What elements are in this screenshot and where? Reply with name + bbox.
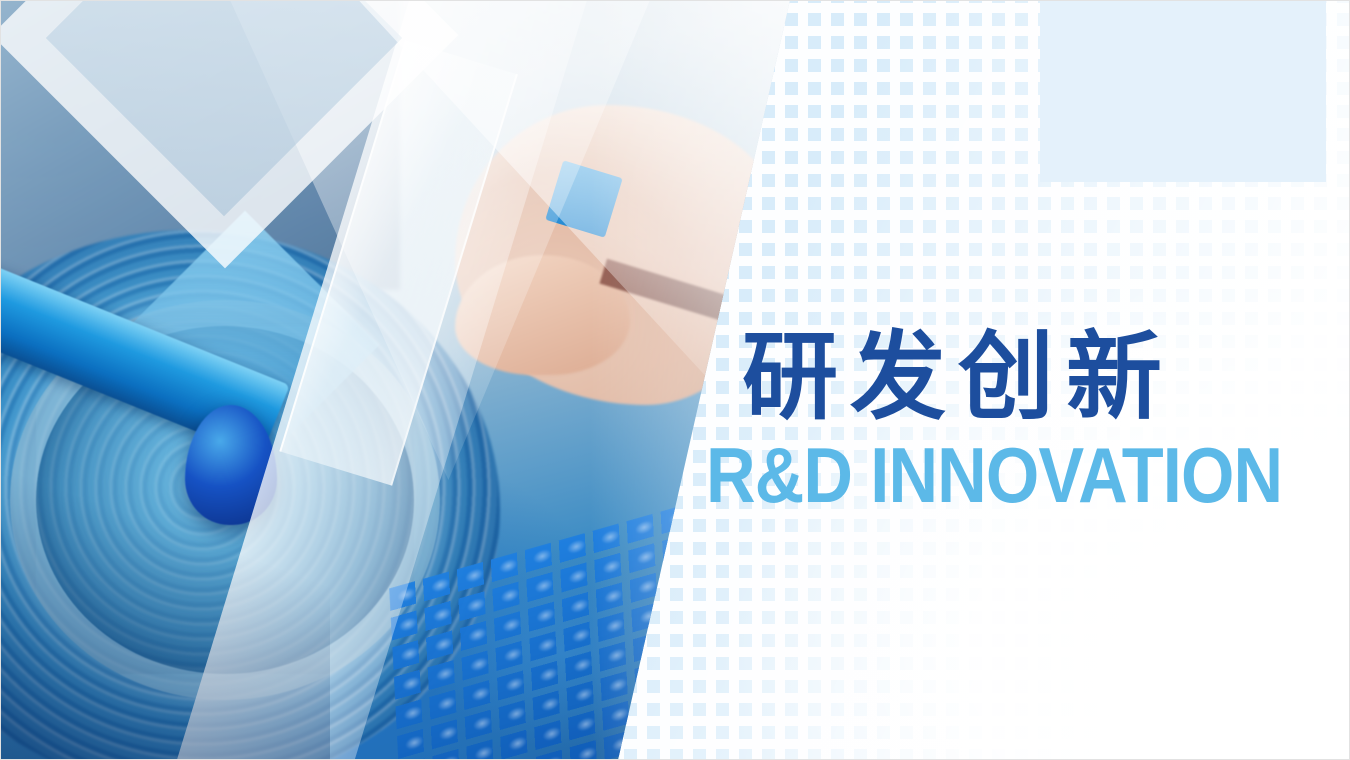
rd-innovation-banner: 恒瑞 研发创新 R&D INNOVATION bbox=[0, 0, 1350, 760]
headline-english: R&D INNOVATION bbox=[706, 435, 1266, 515]
bottom-left-shadow bbox=[0, 460, 330, 760]
headline-chinese: 研发创新 bbox=[742, 325, 1342, 429]
headline-block: 研发创新 R&D INNOVATION bbox=[742, 325, 1342, 515]
logo-panel: 恒瑞 bbox=[1040, 0, 1326, 182]
